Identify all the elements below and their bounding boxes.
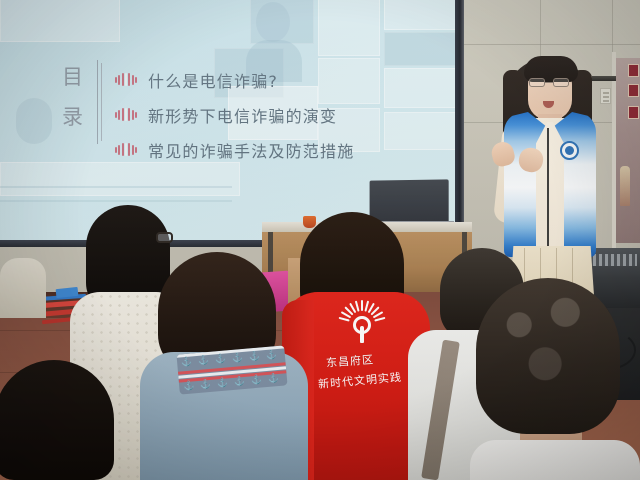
slide-toc-label: 什么是电信诈骗? [148,68,278,92]
eyeglasses-icon [529,78,571,87]
slide-toc-list: 什么是电信诈骗? 新形势下电信诈骗的演变 常见的诈骗手法及防范措施 [115,62,455,167]
wall-panel-seam [462,44,640,45]
slide-title-divider [97,60,98,144]
slide-title-char-2: 录 [56,97,90,137]
slide-bg-line [0,200,232,202]
slide-toc-item-3: 常见的诈骗手法及防范措施 [115,132,455,167]
wall-poster [616,58,640,243]
eyeglasses-icon [156,232,173,243]
slide-bg-photo [0,162,240,196]
attendee-hair [0,360,114,480]
poster-char-box [628,64,639,77]
presenter-badge [560,141,579,160]
slide-bg-figure [256,2,290,42]
slide-toc-label: 常见的诈骗手法及防范措施 [148,138,354,162]
slide-bg-photo [318,0,380,56]
slide-toc-label: 新形势下电信诈骗的演变 [148,103,337,127]
waveform-bullet-icon [115,143,137,156]
waveform-bullet-icon [115,108,137,121]
attendee-hair-curly [476,278,620,434]
poster-figure [620,166,630,206]
attendee-top [470,440,640,480]
screen-bezel-right [455,0,464,247]
presenter-vest-zipper [547,128,549,254]
poster-char-box [628,84,639,97]
attendee-shoulder [0,258,46,318]
slide-title-divider [101,63,102,141]
slide-bg-figure [16,98,52,144]
waveform-bullet-icon [115,73,137,86]
presenter-vest-opening [536,122,564,256]
slide-bg-line [0,186,232,188]
slide-toc-item-1: 什么是电信诈骗? [115,62,455,97]
slide-bg-photo [384,32,462,66]
orange-cup [303,216,316,228]
slide-title-char-1: 目 [56,57,90,97]
slide-bg-photo [384,0,462,30]
laptop-screen [370,179,449,222]
wall-mounted-bracket [592,76,616,81]
slide-bg-photo [0,0,120,42]
slide-title: 目 录 [56,57,90,137]
sunburst-flame-icon [338,300,386,348]
poster-char-box [628,106,639,119]
photo-scene: 目 录 什么是电信诈骗? 新形势下电信诈骗的演变 [0,0,640,480]
wall-switch-plate[interactable] [600,88,611,104]
slide-toc-item-2: 新形势下电信诈骗的演变 [115,97,455,132]
